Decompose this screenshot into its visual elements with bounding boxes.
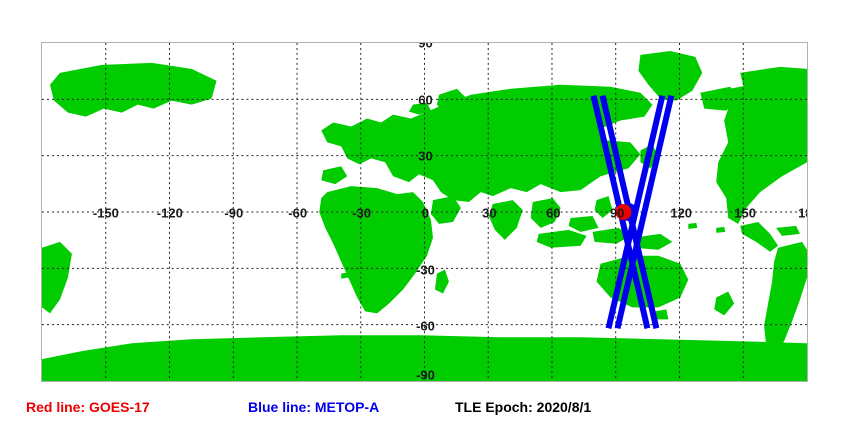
land-madagascar <box>435 270 449 294</box>
land-indochina <box>531 198 561 228</box>
land-indonesia-1 <box>537 230 587 248</box>
legend-bar: Red line: GOES-17 Blue line: METOP-A TLE… <box>0 393 850 421</box>
land-borneo <box>569 216 599 232</box>
land-island-hawaii <box>511 217 518 223</box>
legend-red-line-goes-17: Red line: GOES-17 <box>26 393 150 421</box>
legend-blue-line-metop-a: Blue line: METOP-A <box>248 393 379 421</box>
land-south-america-west <box>42 242 72 314</box>
world-map-panel: -30 0 30 60 90 120 150 180 -150 -120 -90… <box>41 42 808 382</box>
legend-tle-epoch: TLE Epoch: 2020/8/1 <box>455 393 591 421</box>
land-north-america <box>50 63 217 117</box>
land-caribbean <box>776 226 800 236</box>
land-philippines <box>595 196 613 218</box>
land-india <box>489 200 523 240</box>
land-new-zealand <box>714 292 734 316</box>
land-island-pacific-3 <box>716 227 725 233</box>
land-island-pacific-2 <box>688 223 697 229</box>
land-iberia <box>321 166 347 184</box>
goes-17-marker <box>616 204 632 220</box>
land-island-pacific-1 <box>341 273 348 279</box>
map-canvas <box>42 43 807 381</box>
land-central-america <box>740 222 778 252</box>
land-greenland <box>638 51 702 101</box>
land-south-america <box>764 242 807 353</box>
land-africa <box>319 186 433 313</box>
